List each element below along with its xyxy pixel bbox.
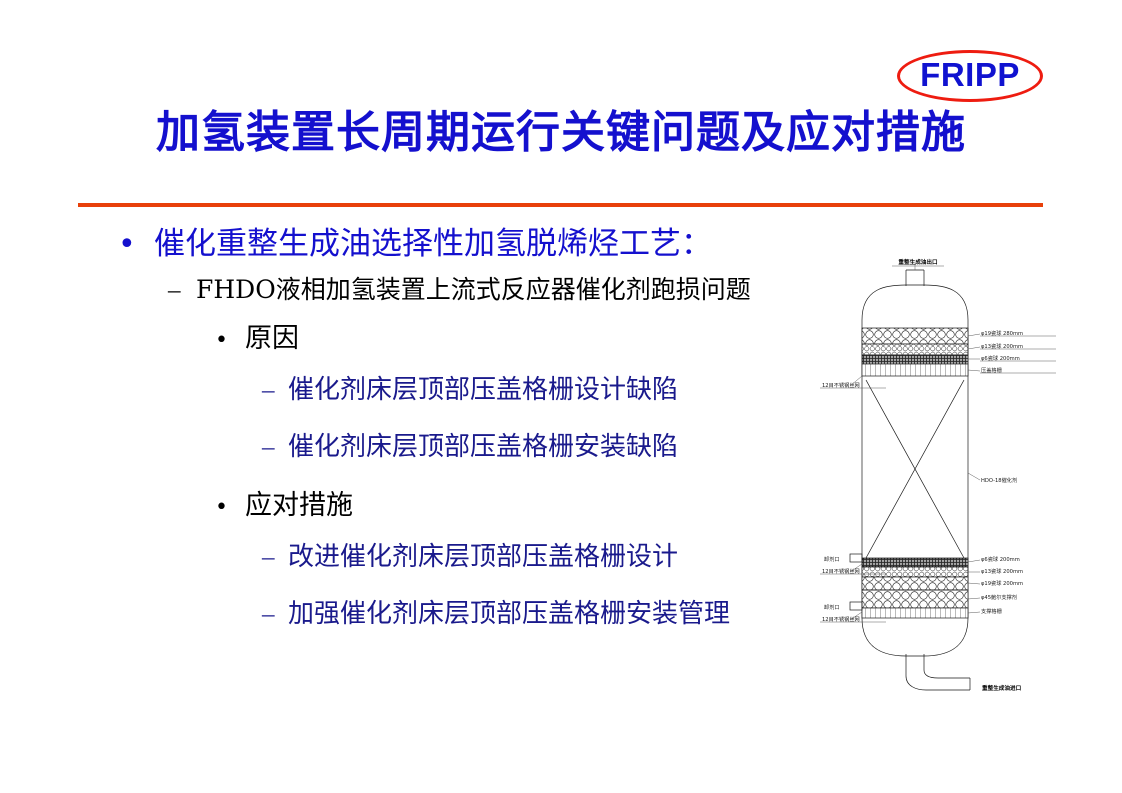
- diagram-label-catalyst: HDO-18催化剂: [981, 476, 1017, 484]
- drain-nozzle-upper: [850, 554, 862, 562]
- bullet-label: 应对措施: [245, 483, 353, 522]
- bullet-marker: •: [215, 328, 245, 353]
- bullet-label: 加强催化剂床层顶部压盖格栅安装管理: [288, 593, 730, 630]
- bullet-level4-cause-2: – 催化剂床层顶部压盖格栅安装缺陷: [0, 426, 860, 463]
- reactor-schematic-image: 重整生成油出口 φ19瓷球 280mm φ13瓷球 200mm φ6瓷球 200…: [820, 258, 1120, 698]
- logo-text: FRIPP: [897, 50, 1043, 102]
- diagram-label-bottom-layer-1: φ6瓷球 200mm: [981, 555, 1020, 563]
- diagram-label-bottom-layer-3: φ19瓷球 200mm: [981, 579, 1023, 587]
- bullet-marker: •: [215, 495, 245, 520]
- diagram-label-drain-lower: 卸剂口: [824, 603, 840, 611]
- diagram-label-support-grating: 支撑格栅: [981, 607, 1002, 615]
- diagram-label-bottom-inlet: 重整生成油进口: [982, 684, 1022, 692]
- bullet-label: 原因: [245, 316, 299, 355]
- bullet-label: 改进催化剂床层顶部压盖格栅设计: [288, 536, 678, 573]
- slide-content: • 催化重整生成油选择性加氢脱烯烃工艺： – FHDO液相加氢装置上流式反应器催…: [0, 218, 860, 650]
- title-divider: [78, 203, 1043, 207]
- bottom-outlet-pipe: [906, 654, 970, 690]
- bullet-marker: –: [262, 544, 288, 572]
- diagram-label-top-layer-2: φ13瓷球 200mm: [981, 342, 1023, 350]
- bullet-label: 催化重整生成油选择性加氢脱烯烃工艺：: [154, 218, 712, 263]
- bullet-level3-cause-heading: • 原因: [0, 316, 860, 355]
- bullet-marker: –: [262, 377, 288, 405]
- catalyst-bed-symbol: [866, 380, 964, 558]
- bullet-level1-process: • 催化重整生成油选择性加氢脱烯烃工艺：: [0, 218, 860, 263]
- diagram-label-top-layer-3: φ6瓷球 200mm: [981, 354, 1020, 362]
- bullet-marker: –: [262, 601, 288, 629]
- top-nozzle: [906, 270, 924, 286]
- bullet-label: 催化剂床层顶部压盖格栅设计缺陷: [288, 369, 678, 406]
- bottom-bed-layers: [862, 558, 968, 618]
- bullet-marker: –: [262, 434, 288, 462]
- bullet-label: FHDO液相加氢装置上流式反应器催化剂跑损问题: [196, 270, 751, 306]
- bullet-level4-measure-1: – 改进催化剂床层顶部压盖格栅设计: [0, 536, 860, 573]
- diagram-label-mesh-lower: 12目不锈钢丝网: [822, 615, 860, 623]
- bullet-label: 催化剂床层顶部压盖格栅安装缺陷: [288, 426, 678, 463]
- diagram-label-top-grating: 压盖格栅: [981, 366, 1002, 374]
- diagram-label-bottom-support-media: φ45鲍尔支撑剂: [981, 593, 1017, 601]
- diagram-label-mesh-upper: 12目不锈钢丝网: [822, 567, 860, 575]
- drain-nozzle-lower: [850, 602, 862, 610]
- bullet-marker: –: [168, 277, 196, 305]
- top-bed-layers: [862, 328, 968, 376]
- page-title: 加氢装置长周期运行关键问题及应对措施: [0, 96, 1122, 160]
- diagram-label-top-outlet: 重整生成油出口: [898, 258, 938, 266]
- bullet-level4-measure-2: – 加强催化剂床层顶部压盖格栅安装管理: [0, 593, 860, 630]
- diagram-label-top-layer-1: φ19瓷球 280mm: [981, 329, 1023, 337]
- diagram-label-bottom-layer-2: φ13瓷球 200mm: [981, 567, 1023, 575]
- bullet-marker: •: [118, 230, 154, 260]
- bullet-level2-issue: – FHDO液相加氢装置上流式反应器催化剂跑损问题: [0, 270, 860, 306]
- diagram-label-top-mesh: 12目不锈钢丝网: [822, 381, 860, 389]
- diagram-label-drain-upper: 卸剂口: [824, 555, 840, 563]
- bullet-level4-cause-1: – 催化剂床层顶部压盖格栅设计缺陷: [0, 369, 860, 406]
- bullet-level3-measures-heading: • 应对措施: [0, 483, 860, 522]
